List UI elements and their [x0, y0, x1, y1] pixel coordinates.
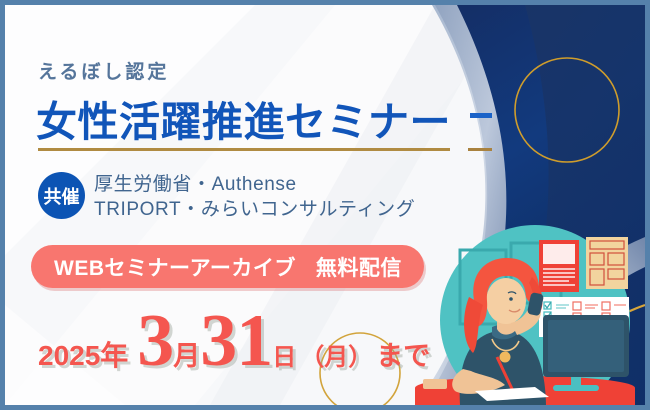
- cohost-row: 共催 厚生労働省・Authense TRIPORT・みらいコンサルティング: [38, 171, 415, 222]
- cohost-line-2: TRIPORT・みらいコンサルティング: [94, 197, 415, 222]
- deadline-day-number: 31: [200, 308, 272, 375]
- archive-label: WEBセミナーアーカイブ: [54, 252, 296, 282]
- deadline-day-unit: 日: [272, 337, 296, 372]
- deadline-weekday: （月）: [300, 337, 372, 372]
- seminar-banner: えるぼし認定 女性活躍推進セミナー 共催 厚生労働省・Authense TRIP…: [0, 0, 650, 410]
- deadline-month-number: 3: [137, 308, 173, 375]
- deadline-until: まで: [376, 334, 430, 373]
- cohost-names: 厚生労働省・Authense TRIPORT・みらいコンサルティング: [94, 171, 415, 222]
- free-label: 無料配信: [316, 252, 402, 282]
- page-title: 女性活躍推進セミナー: [36, 88, 451, 148]
- deadline-year: 2025年: [38, 334, 128, 374]
- deadline-date: 2025年 3 月 31 日 （月） まで: [38, 308, 430, 375]
- cohost-line-1: 厚生労働省・Authense: [94, 172, 415, 197]
- deadline-month-unit: 月: [173, 334, 200, 373]
- cohost-badge: 共催: [38, 172, 85, 219]
- archive-pill: WEBセミナーアーカイブ 無料配信: [31, 245, 424, 288]
- title-underline-rule: [38, 148, 450, 151]
- eyebrow-text: えるぼし認定: [38, 57, 169, 84]
